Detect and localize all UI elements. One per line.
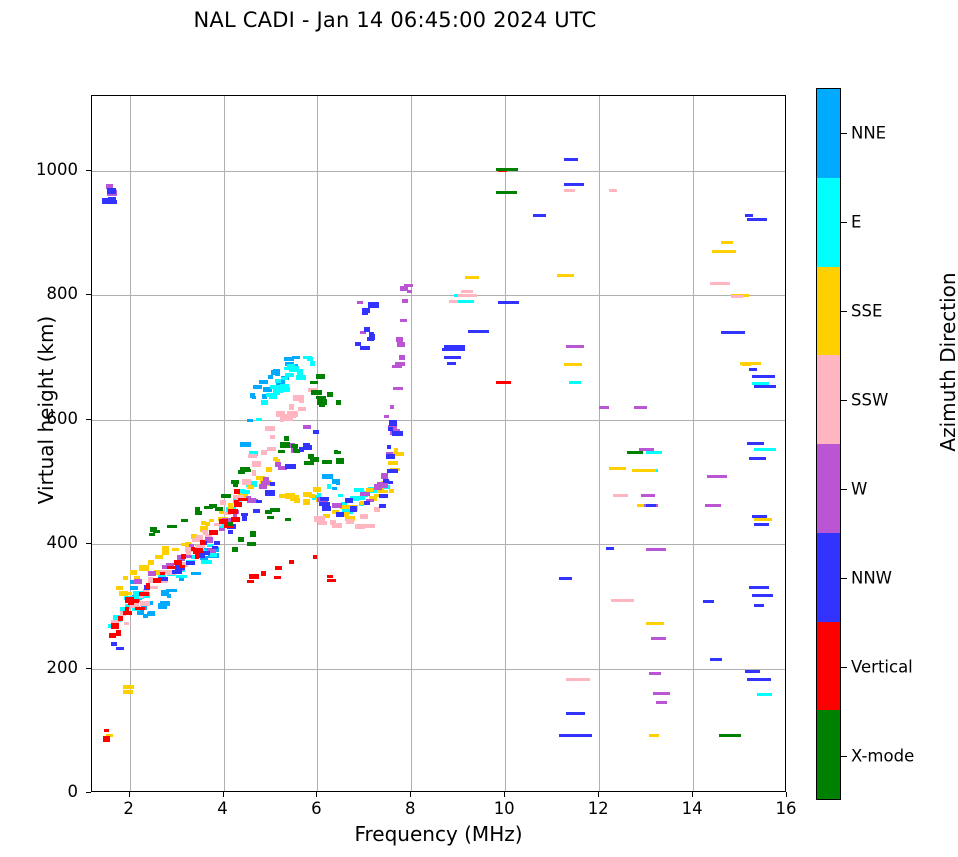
data-point [285,464,296,469]
data-point [259,484,267,489]
data-point [125,607,129,611]
data-point [201,560,212,564]
data-point [752,594,773,597]
data-point [747,442,764,445]
data-point [327,484,331,489]
data-point [599,406,609,409]
data-point [496,168,518,171]
data-point [267,447,276,451]
data-point [274,576,281,579]
data-point [241,513,248,516]
data-point [261,400,268,405]
data-point [609,189,617,192]
data-point [641,494,655,497]
data-point [134,579,142,584]
colorbar-tick [841,578,847,579]
colorbar-segment-x-mode [817,710,840,799]
data-point [232,547,238,552]
data-point [116,647,124,650]
data-point [212,546,218,549]
y-tick [86,419,91,420]
data-point [238,498,248,501]
data-point [345,498,353,503]
data-point [116,630,121,636]
data-point [613,494,628,497]
data-point [135,607,145,610]
data-point [334,450,338,454]
data-point [336,400,341,405]
data-point [109,633,116,638]
data-point [285,373,294,377]
data-point [247,580,254,583]
colorbar-segment-w [817,444,840,533]
data-point [316,374,325,379]
data-point [458,300,474,303]
data-point [747,678,771,681]
data-point [752,375,775,378]
ionogram-figure: NAL CADI - Jan 14 06:45:00 2024 UTC 2468… [0,0,958,857]
data-point [108,200,117,204]
data-point [705,504,721,507]
data-point [396,337,403,342]
data-point [172,570,182,574]
data-point [402,299,408,303]
colorbar-tick [841,222,847,223]
data-point [238,537,244,542]
data-point [400,319,407,322]
data-point [609,467,626,470]
data-point [148,560,154,565]
data-point [247,419,253,422]
x-tick-label: 12 [568,799,628,818]
data-point [298,407,306,411]
data-point [209,519,214,522]
data-point [649,672,661,675]
data-point [557,274,574,277]
data-point [747,218,767,221]
data-point [566,345,584,348]
y-tick [86,792,91,793]
data-point [281,377,288,380]
data-point [707,475,727,478]
data-point [198,552,205,558]
data-point [387,445,391,449]
data-point [303,425,311,429]
gridline-vertical [693,96,694,791]
data-point [153,578,161,583]
colorbar-label-nne: NNE [851,123,886,142]
data-point [749,457,766,460]
data-point [327,575,333,578]
colorbar-tick [841,311,847,312]
data-point [703,600,714,603]
data-point [752,515,767,518]
data-point [346,519,354,524]
data-point [266,467,272,472]
data-point [274,391,280,395]
data-point [118,616,123,621]
data-point [293,395,304,401]
data-point [389,489,394,493]
x-tick-label: 16 [756,799,816,818]
x-tick [786,792,787,797]
data-point [128,601,134,605]
data-point [564,189,575,192]
data-point [289,404,294,410]
data-point [364,501,370,505]
data-point [250,531,256,537]
data-point [219,528,225,531]
data-point [123,685,134,689]
data-point [240,442,251,447]
data-point [130,586,138,590]
colorbar-tick [841,489,847,490]
data-point [327,392,333,397]
data-point [388,461,398,465]
data-point [259,380,268,384]
data-point [397,342,405,347]
data-point [234,489,240,494]
data-point [611,599,634,602]
data-point [181,519,188,522]
data-point [632,469,656,472]
data-point [294,498,300,503]
data-point [303,499,310,505]
data-point [564,363,582,366]
data-point [332,503,342,508]
colorbar-label-e: E [851,212,861,231]
data-point [498,301,519,304]
data-point [754,604,764,607]
y-tick-label: 0 [18,782,78,801]
data-point [148,571,156,576]
data-point [310,381,318,384]
data-point [191,572,201,575]
data-point [442,348,465,351]
data-point [745,670,760,673]
data-point [465,276,479,279]
colorbar-segment-ssw [817,355,840,444]
data-point [564,183,584,186]
data-point [181,554,186,559]
x-tick [504,792,505,797]
data-point [731,295,743,298]
y-tick [86,668,91,669]
plot-area [91,95,786,792]
data-point [139,565,149,571]
x-tick-label: 2 [99,799,159,818]
data-point [195,548,201,551]
data-point [280,442,290,448]
data-point [247,542,256,546]
data-point [447,362,456,365]
data-point [338,494,343,497]
data-point [745,214,753,217]
data-point [559,734,580,737]
data-point [248,454,257,458]
data-point [116,586,123,590]
data-point [566,712,585,715]
data-point [256,500,262,503]
data-point [167,525,177,528]
data-point [566,678,590,681]
data-point [242,479,251,485]
colorbar-label-ssw: SSW [851,390,888,409]
data-point [273,457,278,461]
gridline-vertical [599,96,600,791]
data-point [634,406,647,409]
data-point [310,361,315,366]
data-point [263,477,269,481]
data-point [256,418,262,421]
data-point [314,516,325,522]
colorbar-tick [841,133,847,134]
data-point [204,506,213,509]
data-point [124,622,129,625]
page-title: NAL CADI - Jan 14 06:45:00 2024 UTC [0,8,790,32]
data-point [754,523,769,526]
data-point [228,509,238,514]
data-point [161,590,169,596]
data-point [400,286,408,291]
data-point [399,355,405,360]
data-point [215,507,223,511]
data-point [322,506,331,511]
data-point [357,301,363,304]
data-point [220,500,226,505]
data-point [275,379,281,383]
data-point [253,385,262,389]
data-point [379,504,386,508]
y-tick [86,543,91,544]
data-point [458,294,477,297]
x-tick-label: 6 [286,799,346,818]
data-point [289,560,294,564]
data-point [754,448,776,451]
data-point [362,308,370,313]
data-point [449,300,458,303]
data-point [205,522,210,526]
gridline-horizontal [92,171,785,172]
data-point [252,461,261,467]
y-tick-label: 200 [18,658,78,677]
data-point [364,524,375,528]
data-point [754,385,776,388]
data-point [292,356,300,359]
data-point [310,494,314,498]
data-point [285,518,291,521]
x-tick-label: 14 [662,799,722,818]
x-tick-label: 10 [474,799,534,818]
data-point [392,365,402,368]
colorbar-label-nnw: NNW [851,568,892,587]
data-point [111,642,117,646]
data-point [386,454,395,459]
data-point [200,540,205,545]
data-point [330,520,336,525]
colorbar-label-w: W [851,479,867,498]
data-point [712,250,736,253]
colorbar-label-vertical: Vertical [851,657,913,676]
colorbar-segment-nnw [817,533,840,622]
data-point [270,508,280,512]
data-point [307,357,313,361]
data-point [107,188,116,194]
data-point [234,502,242,507]
data-point [123,576,128,580]
data-point [360,514,368,519]
data-point [148,611,155,616]
data-point [285,414,296,418]
data-point [186,561,195,565]
data-point [249,574,259,579]
gridline-vertical [224,96,225,791]
y-tick-label: 1000 [18,160,78,179]
data-point [304,461,314,465]
data-point [319,404,325,407]
colorbar-label-x-mode: X-mode [851,746,914,765]
data-point [253,509,260,513]
data-point [564,158,578,161]
data-point [123,690,133,694]
gridline-horizontal [92,420,785,421]
data-point [468,330,489,333]
data-point [291,444,298,448]
data-point [275,566,282,570]
data-point [139,592,149,596]
data-point [143,614,148,618]
data-point [270,482,275,486]
data-point [313,555,317,559]
data-point [719,734,741,737]
data-point [279,494,287,498]
data-point [280,384,289,387]
data-point [221,494,231,498]
data-point [111,623,119,629]
data-point [195,535,203,539]
data-point [653,692,670,695]
data-point [172,548,179,551]
data-point [649,734,659,737]
data-point [252,470,256,476]
x-tick [223,792,224,797]
colorbar-tick [841,667,847,668]
data-point [350,506,357,512]
data-point [444,345,465,348]
data-point [167,566,176,569]
data-point [393,387,403,390]
data-point [327,579,336,582]
data-point [656,701,667,704]
colorbar-segment-vertical [817,622,840,711]
data-point [228,530,233,534]
gridline-vertical [505,96,506,791]
data-point [241,469,251,472]
data-point [379,494,388,498]
data-point [394,448,398,453]
data-point [360,492,370,496]
data-point [297,369,303,375]
data-point [742,363,751,366]
data-point [757,693,772,696]
data-point [336,481,340,485]
data-point [336,512,344,517]
data-point [710,282,730,285]
data-point [311,390,322,395]
data-point [388,427,393,431]
data-point [267,516,274,519]
data-point [270,435,275,439]
data-point [202,530,208,533]
colorbar-label: Azimuth Direction [936,252,958,472]
data-point [284,367,291,370]
data-point [176,575,187,578]
data-point [179,565,185,568]
gridline-vertical [411,96,412,791]
data-point [749,368,757,371]
data-point [721,241,733,244]
data-point [265,510,272,514]
data-point [389,420,397,426]
data-point [366,488,373,492]
data-point [749,586,769,589]
data-point [360,346,370,350]
data-point [313,487,321,492]
data-point [233,483,238,487]
data-point [103,736,110,742]
x-tick [598,792,599,797]
data-point [369,334,375,340]
x-tick [129,792,130,797]
data-point [210,553,217,557]
data-point [251,498,256,501]
data-point [313,430,319,434]
x-tick-label: 4 [193,799,253,818]
data-point [384,415,389,418]
x-tick-label: 8 [380,799,440,818]
data-point [646,548,666,551]
data-point [265,426,275,431]
data-point [265,490,275,496]
gridline-vertical [317,96,318,791]
data-point [214,541,220,545]
data-point [104,729,109,732]
data-point [319,502,330,506]
data-point [332,487,337,490]
data-point [296,375,306,380]
x-tick [410,792,411,797]
data-point [123,611,132,615]
gridline-horizontal [92,295,785,296]
data-point [496,381,511,384]
data-point [390,405,394,409]
gridline-horizontal [92,669,785,670]
colorbar-tick [841,400,847,401]
colorbar-segment-nne [817,89,840,178]
data-point [355,342,361,346]
data-point [149,533,155,536]
data-point [569,381,581,384]
data-point [559,577,572,580]
data-point [388,481,393,484]
y-tick [86,170,91,171]
data-point [444,356,461,359]
data-point [320,497,329,501]
x-tick [316,792,317,797]
data-point [303,443,310,447]
data-point [392,431,403,436]
data-point [150,527,157,532]
